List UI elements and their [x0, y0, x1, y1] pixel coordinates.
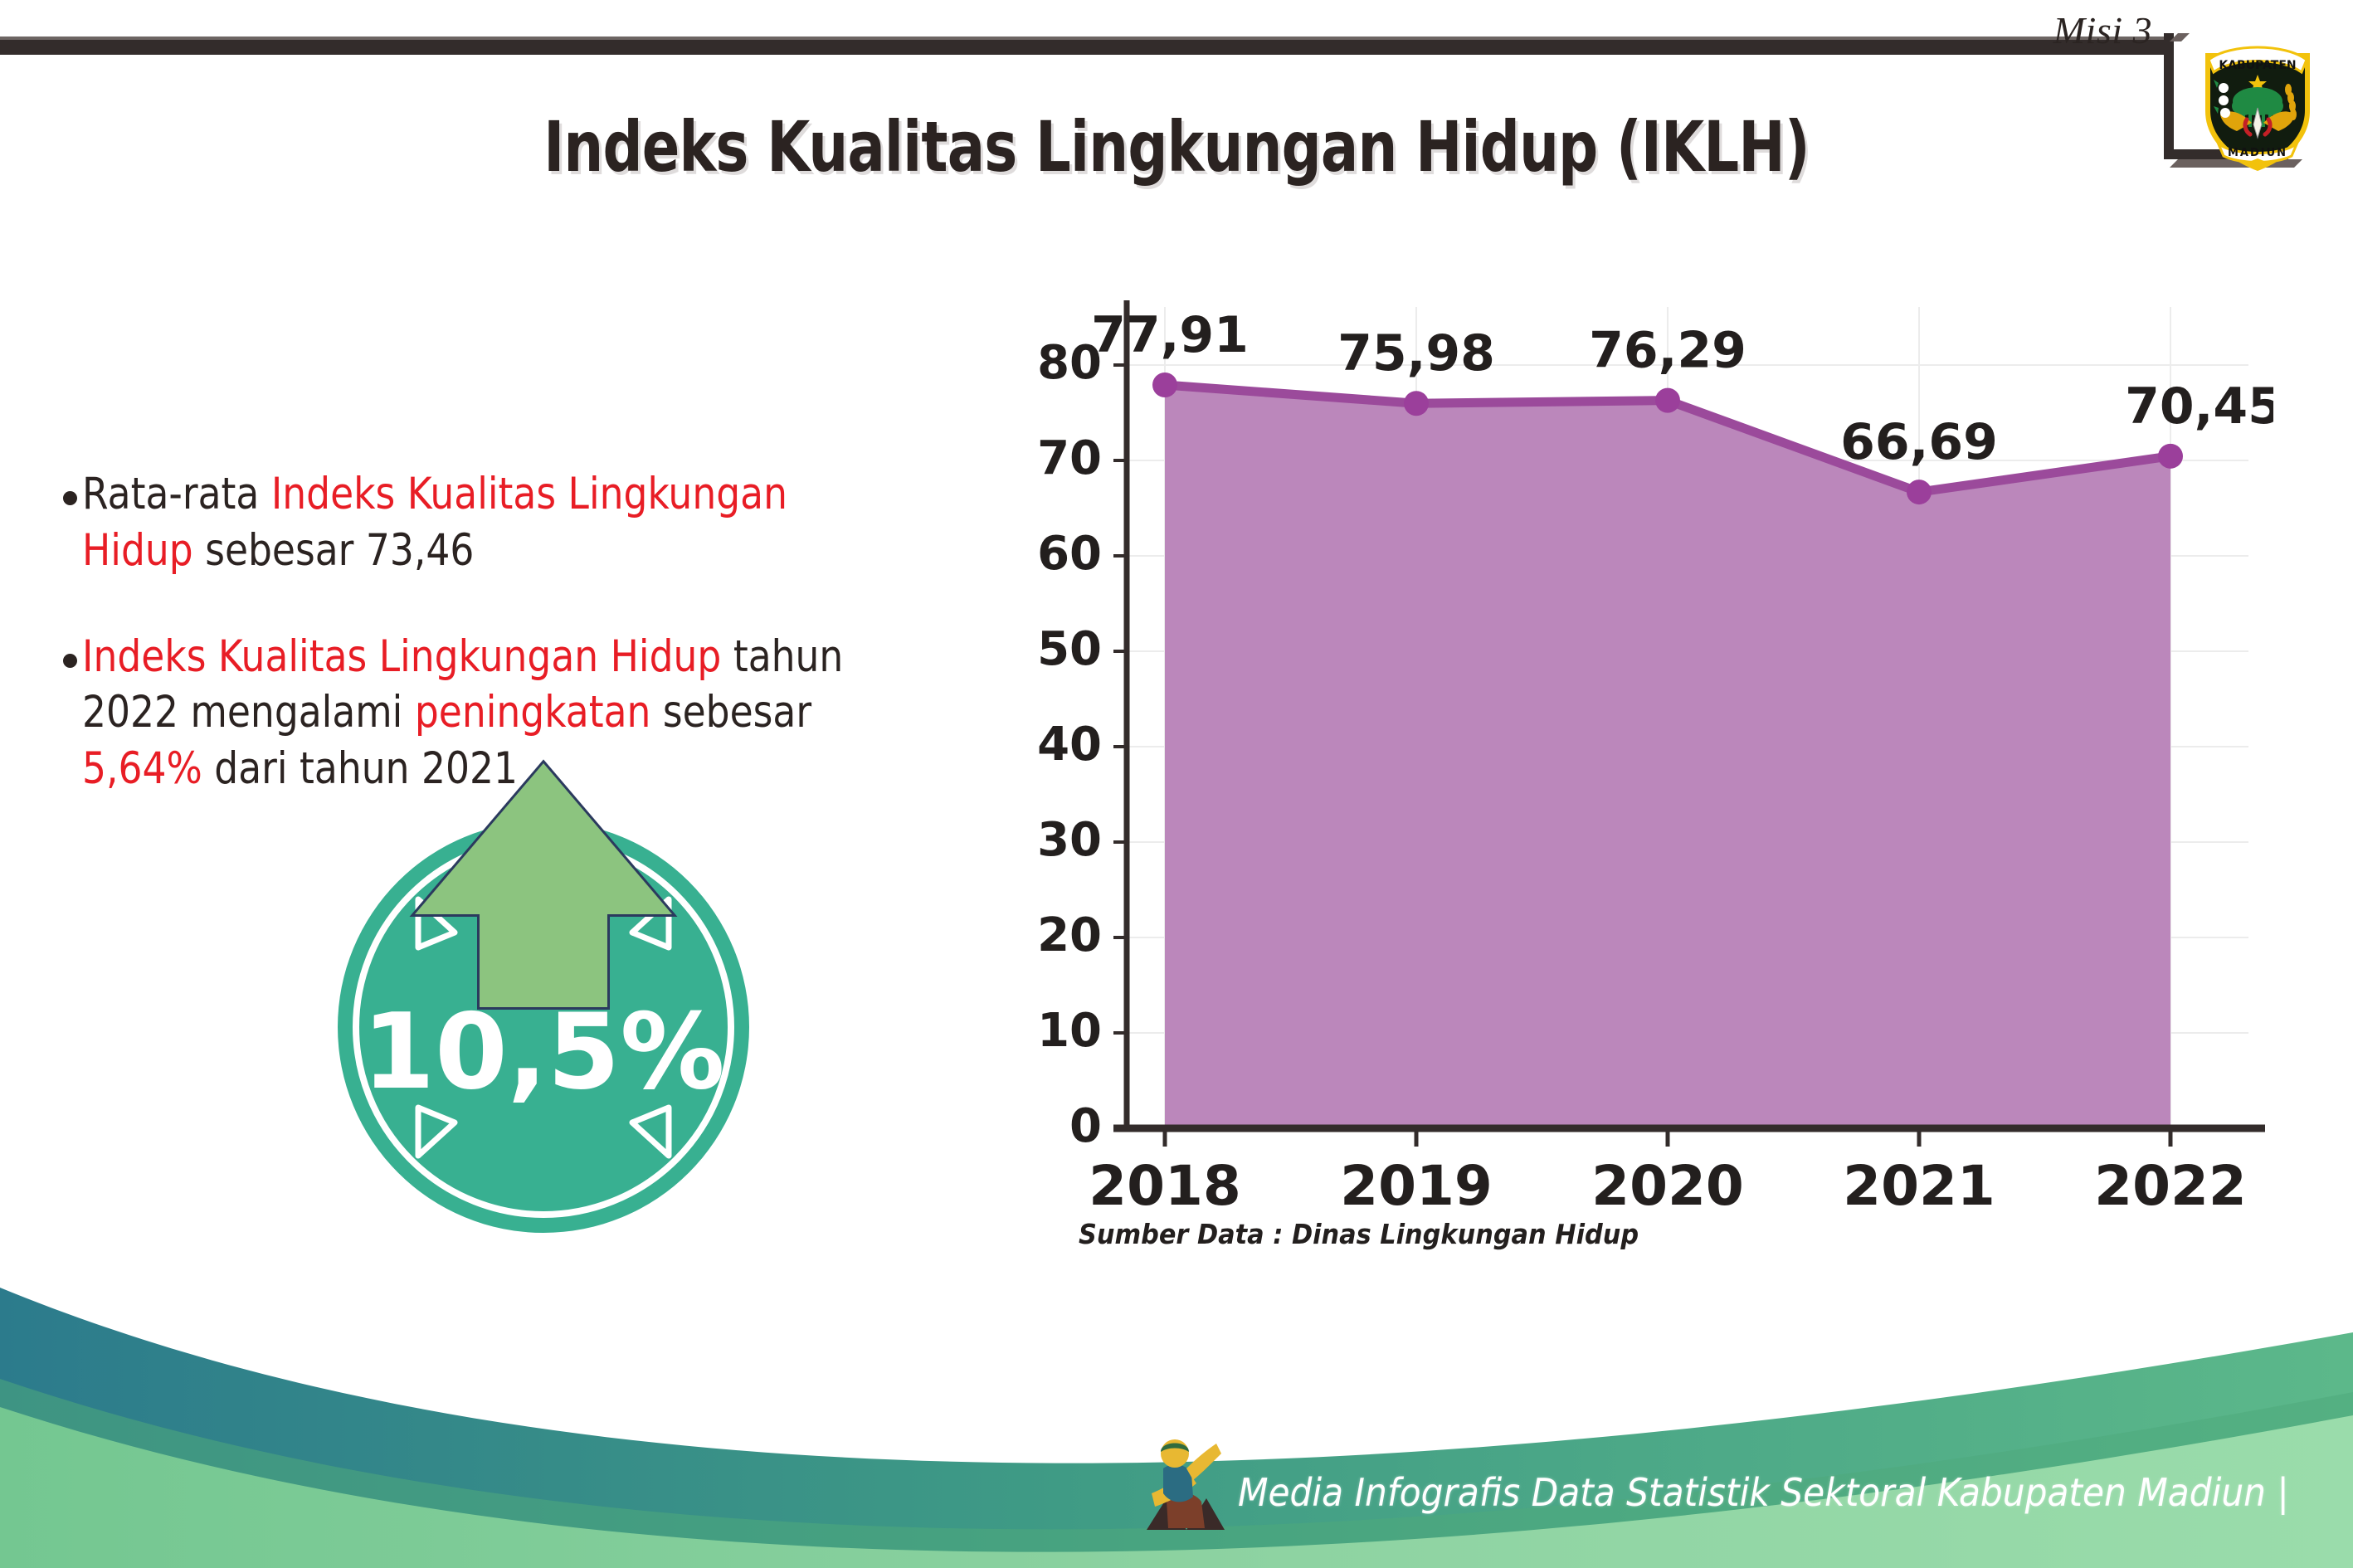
slide-canvas: Misi 3 KABUPATEN: [0, 0, 2353, 1568]
insight-2-seg-0: Indeks Kualitas Lingkungan Hidup: [82, 631, 721, 682]
insight-1-seg-0: Rata-rata: [82, 469, 271, 519]
insight-text-1: Rata-rata Indeks Kualitas Lingkungan Hid…: [82, 466, 844, 579]
data-point-marker: [1152, 373, 1177, 397]
data-point-marker: [1907, 480, 1932, 504]
svg-text:MADIUN: MADIUN: [2228, 147, 2287, 159]
insight-2-seg-3: sebesar: [650, 687, 811, 738]
bullet-dot-icon: [63, 654, 77, 668]
x-axis-label: 2018: [1089, 1154, 1241, 1211]
kabupaten-madiun-logo-icon: KABUPATEN MADIUN: [2190, 32, 2325, 174]
insight-1-seg-2: sebesar 73,46: [193, 525, 475, 576]
infografis-mascot-icon: [1138, 1429, 1231, 1551]
y-axis-label: 60: [1037, 527, 1102, 581]
y-axis-label: 50: [1037, 622, 1102, 676]
x-axis-label: 2022: [2094, 1154, 2247, 1211]
y-axis-label: 30: [1037, 813, 1102, 867]
footer-text: Media Infografis Data Statistik Sektoral…: [1238, 1470, 2289, 1515]
area-fill: [1165, 385, 2170, 1128]
data-point-marker: [1655, 388, 1680, 413]
y-axis-label: 10: [1037, 1004, 1102, 1058]
data-label: 66,69: [1840, 413, 1998, 471]
page-title: Indeks Kualitas Lingkungan Hidup (IKLH): [236, 106, 2118, 187]
increase-badge: 10,5%: [329, 752, 768, 1241]
data-point-marker: [2158, 444, 2183, 469]
y-axis-label: 70: [1037, 431, 1102, 485]
data-label: 70,45: [2125, 377, 2273, 436]
insight-2-seg-4: 5,64%: [82, 743, 202, 794]
y-axis-label: 20: [1037, 908, 1102, 962]
badge-value: 10,5%: [362, 991, 724, 1113]
x-axis-label: 2021: [1843, 1154, 1995, 1211]
data-label: 75,98: [1337, 324, 1495, 382]
svg-text:KABUPATEN: KABUPATEN: [2219, 59, 2296, 72]
y-axis-label: 40: [1037, 718, 1102, 772]
list-item: Rata-rata Indeks Kualitas Lingkungan Hid…: [63, 466, 967, 579]
x-axis-label: 2019: [1340, 1154, 1493, 1211]
source-note: Sumber Data : Dinas Lingkungan Hidup: [1079, 1218, 1639, 1250]
insight-2-seg-2: peningkatan: [415, 687, 651, 738]
header-bracket-vertical: [2164, 33, 2174, 159]
data-point-marker: [1404, 391, 1429, 416]
header-rule: [0, 40, 2169, 55]
misi-label: Misi 3: [2053, 8, 2152, 52]
data-label: 77,91: [1091, 306, 1249, 364]
iklh-area-chart: 0102030405060708077,9175,9876,2966,6970,…: [979, 274, 2273, 1211]
bullet-dot-icon: [63, 491, 77, 505]
x-axis-label: 2020: [1591, 1154, 1744, 1211]
data-label: 76,29: [1589, 322, 1746, 380]
y-axis-label: 0: [1069, 1099, 1102, 1153]
